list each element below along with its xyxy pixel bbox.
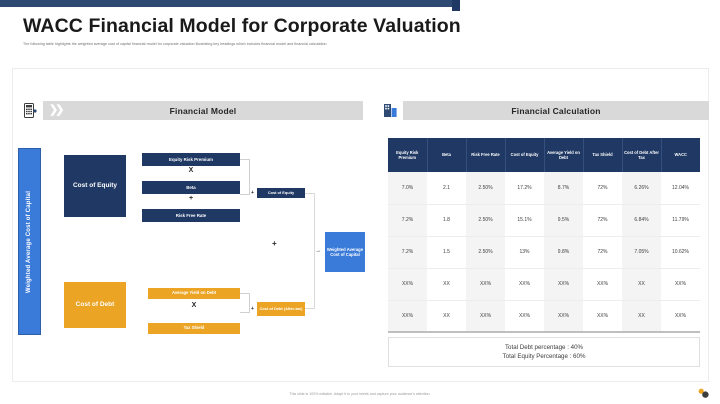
equity-result-prefix: + [251,190,254,196]
cell: 13% [505,236,544,268]
operator-plus-equity: + [142,195,240,202]
totals-box: Total Debt percentage : 40% Total Equity… [388,337,700,367]
financial-model-label: Financial Model [170,106,237,116]
col-cost-of-equity: Cost of Equity [505,138,544,172]
col-risk-free-rate: Risk Free Rate [466,138,505,172]
equity-risk-premium-box: Equity Risk Premium [142,153,240,166]
cell: 72% [583,204,622,236]
financial-model-header: Financial Model ❯❯ [19,99,364,122]
calculator-icon [19,99,42,122]
cell: 6.26% [622,172,661,204]
table-header-row: Equity Risk Premium Beta Risk Free Rate … [388,138,700,172]
cell: XX [622,268,661,300]
cost-of-debt-box: Cost of Debt [64,282,126,328]
cell: 2.50% [466,172,505,204]
equity-bracket [240,159,250,195]
cell: 1.8 [427,204,466,236]
cell: 11.79% [661,204,700,236]
operator-multiply-equity: X [142,167,240,174]
total-debt-percentage: Total Debt percentage : 40% [505,344,583,351]
cell: XX [622,300,661,332]
merge-line-bottom [305,252,315,309]
financial-calculation-header: Financial Calculation ❯❯ [379,99,709,122]
cell: 8.7% [544,172,583,204]
top-accent-bar [0,0,452,7]
page-subtitle: The following table highlights the weigh… [23,42,583,47]
cell: 72% [583,172,622,204]
cell: XX% [544,300,583,332]
cell: 7.0% [388,172,427,204]
cell: 9.8% [544,236,583,268]
wacc-vertical-label: Weighted Average Cost of Capital [27,190,33,292]
col-equity-risk-premium: Equity Risk Premium [388,138,427,172]
tax-shield-box: Tax Shield [148,323,240,334]
merge-operator: + [272,239,277,248]
cell: XX% [388,268,427,300]
cell: 10.62% [661,236,700,268]
debt-bracket [240,293,250,313]
brand-logo [698,386,709,397]
table-row: XX% XX XX% XX% XX% XX% XX XX% [388,300,700,332]
wacc-vertical-bar: Weighted Average Cost of Capital [18,148,41,335]
financial-calculation-label: Financial Calculation [511,106,600,116]
cell: 2.50% [466,204,505,236]
table-row: 7.2% 1.8 2.50% 15.1% 9.5% 72% 6.84% 11.7… [388,204,700,236]
cell: 15.1% [505,204,544,236]
top-accent-tail [452,0,460,11]
financial-model-ribbon: Financial Model [43,101,363,120]
table-row: XX% XX XX% XX% XX% XX% XX XX% [388,268,700,300]
debt-result-prefix: + [251,306,254,312]
financial-calculation-table: Equity Risk Premium Beta Risk Free Rate … [388,138,700,333]
cell: XX% [544,268,583,300]
col-cost-of-debt-after-tax: Cost of Debt After Tax [622,138,661,172]
col-tax-shield: Tax Shield [583,138,622,172]
operator-multiply-debt: X [148,302,240,309]
cell: XX [427,268,466,300]
cell: XX% [505,300,544,332]
cost-of-equity-result: Cost of Equity [257,188,305,198]
cell: 2.50% [466,236,505,268]
cell: 2.1 [427,172,466,204]
cell: 7.2% [388,204,427,236]
cell: XX [427,300,466,332]
financial-calculation-ribbon: Financial Calculation [403,101,709,120]
cell: XX% [466,268,505,300]
cell: XX% [583,300,622,332]
cell: 72% [583,236,622,268]
total-equity-percentage: Total Equity Percentage : 60% [503,353,586,360]
slide: WACC Financial Model for Corporate Valua… [0,0,720,404]
chart-bar-icon [379,99,402,122]
cell: 12.04% [661,172,700,204]
cell: XX% [466,300,505,332]
merge-line-top [305,193,315,252]
cell: 1.5 [427,236,466,268]
wacc-result-box: Weighted Average Cost of Capital [325,232,365,272]
cell: XX% [505,268,544,300]
cell: 6.84% [622,204,661,236]
cell: XX% [661,300,700,332]
chevron-right-icon: ❯❯ [49,104,61,116]
cell: XX% [583,268,622,300]
cell: 17.2% [505,172,544,204]
cell: 7.05% [622,236,661,268]
table-row: 7.2% 1.5 2.50% 13% 9.8% 72% 7.05% 10.62% [388,236,700,268]
cell: XX% [661,268,700,300]
page-title: WACC Financial Model for Corporate Valua… [23,15,461,38]
cost-of-equity-box: Cost of Equity [64,155,126,217]
col-wacc: WACC [661,138,700,172]
risk-free-rate-box: Risk Free Rate [142,209,240,222]
beta-box: Beta [142,181,240,194]
table-row: 7.0% 2.1 2.50% 17.2% 8.7% 72% 6.26% 12.0… [388,172,700,204]
cell: 9.5% [544,204,583,236]
cell: XX% [388,300,427,332]
average-yield-on-debt-box: Average Yield on Debt [148,288,240,299]
merge-arrow-icon: → [315,248,321,254]
col-beta: Beta [427,138,466,172]
cost-of-debt-after-tax-result: Cost of Debt (After-tax) [257,302,305,316]
cell: 7.2% [388,236,427,268]
col-average-yield-on-debt: Average Yield on Debt [544,138,583,172]
footer-note: This slide is 100% editable. Adapt it to… [0,392,720,396]
